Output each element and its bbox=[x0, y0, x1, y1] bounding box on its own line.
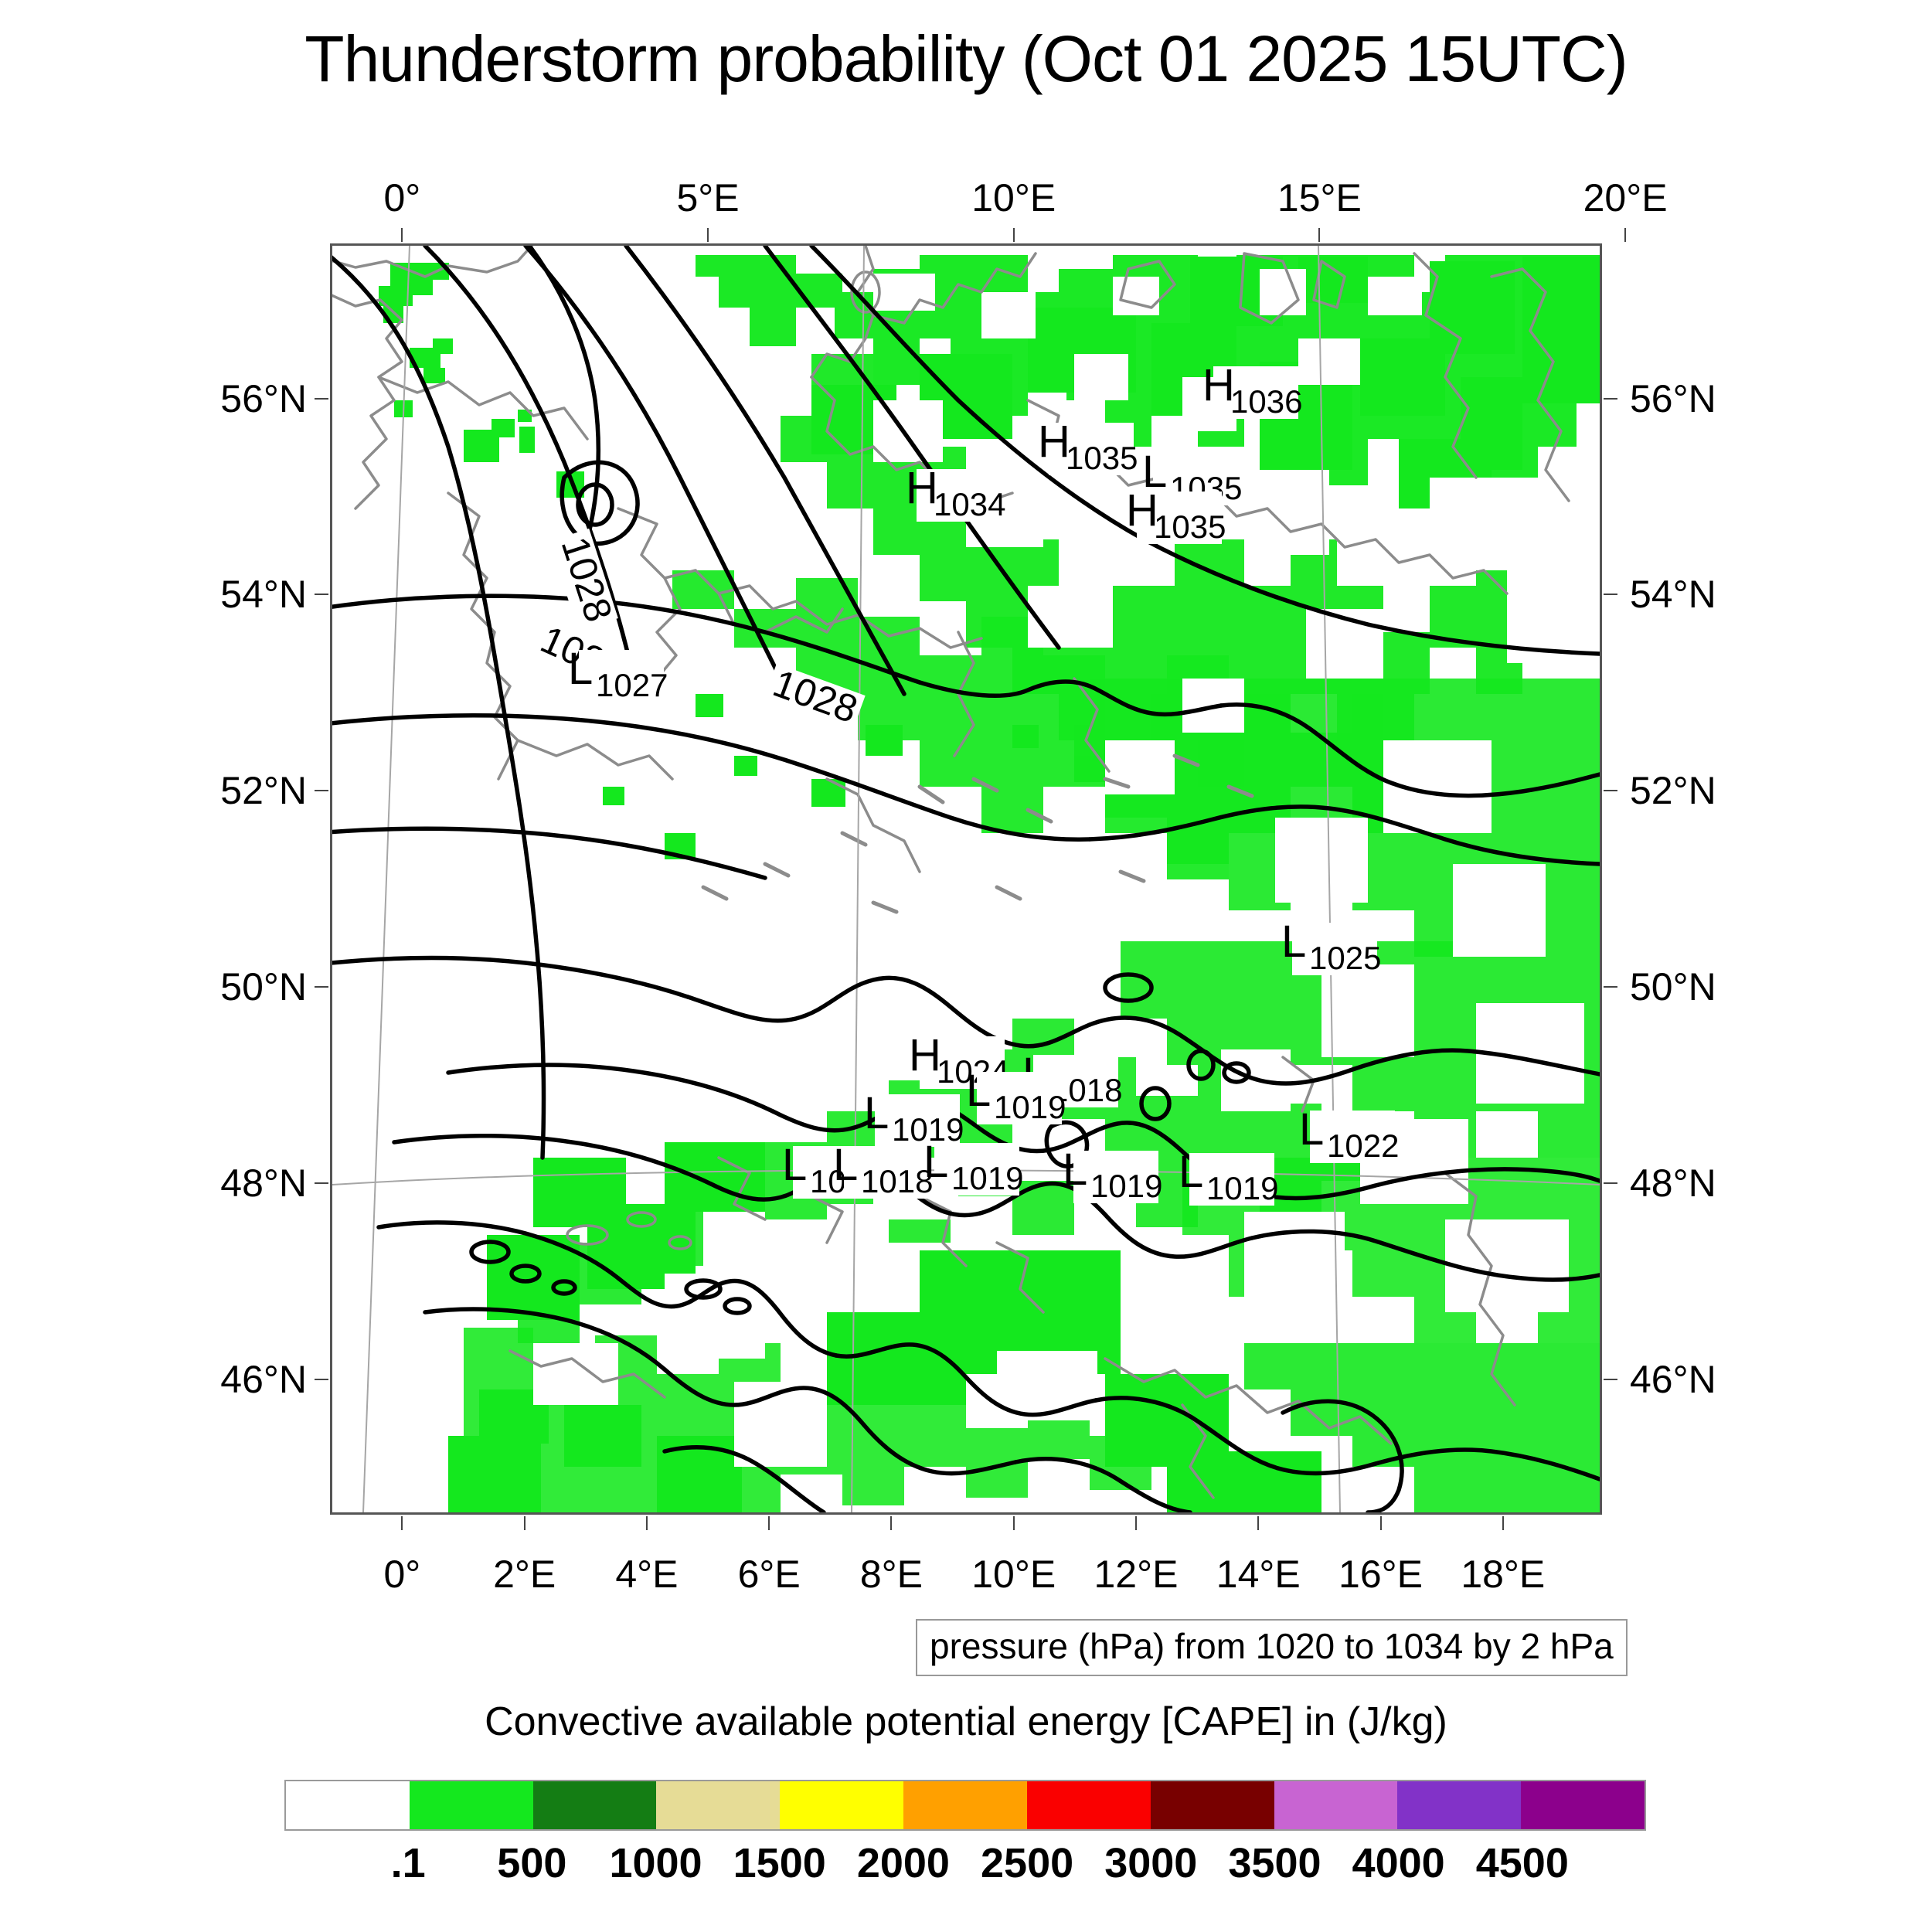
pressure-center-value: 1019 bbox=[1090, 1168, 1162, 1204]
pressure-center-value: 1035 bbox=[1154, 509, 1226, 545]
colorbar-segment-0 bbox=[286, 1781, 410, 1829]
pressure-center-type: L bbox=[782, 1140, 807, 1190]
axis-tick-left bbox=[315, 1379, 328, 1380]
axis-tick-right bbox=[1604, 986, 1617, 988]
pressure-center-l-1022: L1022 bbox=[1299, 1104, 1399, 1164]
pressure-center-l-1019: L1019 bbox=[966, 1066, 1066, 1125]
axis-tick-left bbox=[315, 398, 328, 400]
axis-label-bottom: 4°E bbox=[615, 1552, 678, 1597]
axis-label-left: 48°N bbox=[175, 1161, 307, 1206]
axis-label-left: 46°N bbox=[175, 1357, 307, 1402]
pressure-center-value: 1035 bbox=[1066, 440, 1138, 476]
axis-tick-left bbox=[315, 986, 328, 988]
axis-label-left: 50°N bbox=[175, 964, 307, 1009]
pressure-center-h-1036: H1036 bbox=[1202, 360, 1302, 420]
colorbar-segment-7 bbox=[1151, 1781, 1274, 1829]
axis-tick-left bbox=[315, 790, 328, 791]
axis-tick-bottom bbox=[401, 1516, 403, 1530]
axis-label-bottom: 18°E bbox=[1461, 1552, 1545, 1597]
pressure-center-value: 1034 bbox=[934, 486, 1005, 522]
colorbar-segment-2 bbox=[533, 1781, 657, 1829]
colorbar-segment-5 bbox=[903, 1781, 1027, 1829]
axis-tick-top bbox=[1318, 228, 1320, 242]
axis-label-right: 54°N bbox=[1630, 572, 1716, 617]
axis-tick-bottom bbox=[1380, 1516, 1382, 1530]
pressure-center-type: L bbox=[1179, 1147, 1203, 1197]
axis-label-left: 54°N bbox=[175, 572, 307, 617]
axis-tick-bottom bbox=[646, 1516, 648, 1530]
pressure-center-value: 1022 bbox=[1327, 1128, 1399, 1164]
pressure-center-type: L bbox=[568, 644, 593, 694]
colorbar-segment-1 bbox=[410, 1781, 533, 1829]
axis-label-bottom: 6°E bbox=[738, 1552, 801, 1597]
axis-label-left: 56°N bbox=[175, 376, 307, 421]
pressure-center-value: 1025 bbox=[1309, 940, 1381, 976]
pressure-center-type: L bbox=[966, 1066, 991, 1116]
pressure-center-type: L bbox=[864, 1088, 889, 1138]
axis-tick-right bbox=[1604, 594, 1617, 595]
axis-label-right: 52°N bbox=[1630, 768, 1716, 813]
pressure-center-type: L bbox=[1299, 1104, 1324, 1155]
colorbar-segment-4 bbox=[780, 1781, 903, 1829]
axis-tick-right bbox=[1604, 1379, 1617, 1380]
pressure-center-l-1019: L1019 bbox=[1179, 1147, 1278, 1206]
axis-tick-right bbox=[1604, 790, 1617, 791]
pressure-center-type: L bbox=[923, 1137, 948, 1187]
axis-tick-top bbox=[707, 228, 709, 242]
axis-label-bottom: 16°E bbox=[1338, 1552, 1423, 1597]
axis-tick-bottom bbox=[1257, 1516, 1259, 1530]
colorbar-tick-.1: .1 bbox=[391, 1839, 426, 1887]
pressure-center-h-1035: H1035 bbox=[1038, 417, 1138, 476]
colorbar-segment-10 bbox=[1521, 1781, 1645, 1829]
map-plot-area: 1028 1028 1028 H1036H1035L1035H1035H1034… bbox=[330, 243, 1602, 1515]
axis-label-bottom: 12°E bbox=[1094, 1552, 1179, 1597]
pressure-center-value: 1019 bbox=[1206, 1170, 1278, 1206]
pressure-center-l-1025: L1025 bbox=[1281, 917, 1381, 976]
colorbar-tick-labels: .150010001500200025003000350040004500 bbox=[284, 1839, 1646, 1893]
colorbar-segment-3 bbox=[656, 1781, 780, 1829]
axis-label-top: 5°E bbox=[676, 175, 739, 220]
pressure-center-l-1027: L1027 bbox=[568, 644, 668, 703]
colorbar-tick-1000: 1000 bbox=[609, 1839, 702, 1887]
axis-label-bottom: 0° bbox=[383, 1552, 420, 1597]
pressure-center-value: 1027 bbox=[596, 667, 668, 703]
axis-tick-bottom bbox=[768, 1516, 770, 1530]
axis-label-top: 20°E bbox=[1583, 175, 1668, 220]
page-title: Thunderstorm probability (Oct 01 2025 15… bbox=[0, 22, 1932, 97]
axis-tick-bottom bbox=[524, 1516, 526, 1530]
cape-shaded-field bbox=[379, 255, 1600, 1512]
map-canvas: 1028 1028 1028 H1036H1035L1035H1035H1034… bbox=[332, 246, 1600, 1512]
pressure-center-value: 1019 bbox=[994, 1089, 1066, 1125]
axis-label-top: 15°E bbox=[1277, 175, 1362, 220]
pressure-center-h-1035: H1035 bbox=[1126, 485, 1226, 545]
colorbar-tick-4000: 4000 bbox=[1352, 1839, 1445, 1887]
axis-label-top: 0° bbox=[383, 175, 420, 220]
axis-label-right: 46°N bbox=[1630, 1357, 1716, 1402]
axis-label-bottom: 10°E bbox=[971, 1552, 1056, 1597]
colorbar-tick-3000: 3000 bbox=[1104, 1839, 1197, 1887]
colorbar-tick-4500: 4500 bbox=[1476, 1839, 1569, 1887]
axis-label-bottom: 8°E bbox=[860, 1552, 923, 1597]
colorbar-title: Convective available potential energy [C… bbox=[0, 1699, 1932, 1745]
colorbar-segment-8 bbox=[1274, 1781, 1398, 1829]
pressure-center-value: 1019 bbox=[951, 1160, 1023, 1196]
axis-label-bottom: 14°E bbox=[1216, 1552, 1301, 1597]
pressure-center-type: L bbox=[833, 1140, 858, 1190]
axis-tick-bottom bbox=[1013, 1516, 1015, 1530]
colorbar-tick-500: 500 bbox=[497, 1839, 566, 1887]
colorbar-tick-3500: 3500 bbox=[1228, 1839, 1321, 1887]
axis-label-top: 10°E bbox=[971, 175, 1056, 220]
pressure-center-l-1019: L1019 bbox=[1063, 1145, 1162, 1204]
axis-label-right: 48°N bbox=[1630, 1161, 1716, 1206]
pressure-caption-box: pressure (hPa) from 1020 to 1034 by 2 hP… bbox=[916, 1619, 1628, 1676]
axis-tick-top bbox=[1624, 228, 1626, 242]
axis-tick-bottom bbox=[890, 1516, 892, 1530]
axis-label-right: 56°N bbox=[1630, 376, 1716, 421]
axis-label-bottom: 2°E bbox=[493, 1552, 556, 1597]
axis-tick-top bbox=[1013, 228, 1015, 242]
axis-tick-left bbox=[315, 594, 328, 595]
colorbar-segment-6 bbox=[1027, 1781, 1151, 1829]
pressure-center-l-1019: L1019 bbox=[923, 1137, 1023, 1196]
map-svg: 1028 1028 1028 H1036H1035L1035H1035H1034… bbox=[332, 246, 1600, 1512]
pressure-caption-text: pressure (hPa) from 1020 to 1034 by 2 hP… bbox=[930, 1626, 1614, 1666]
axis-tick-right bbox=[1604, 1182, 1617, 1184]
pressure-center-h-1034: H1034 bbox=[906, 463, 1005, 522]
axis-tick-top bbox=[401, 228, 403, 242]
pressure-center-l-1019: L1019 bbox=[864, 1088, 964, 1148]
pressure-center-value: 1036 bbox=[1230, 383, 1302, 420]
axis-label-right: 50°N bbox=[1630, 964, 1716, 1009]
axis-tick-bottom bbox=[1135, 1516, 1137, 1530]
axis-label-left: 52°N bbox=[175, 768, 307, 813]
colorbar-segment-9 bbox=[1397, 1781, 1521, 1829]
pressure-center-value: 1018 bbox=[861, 1163, 933, 1199]
colorbar-tick-1500: 1500 bbox=[733, 1839, 826, 1887]
axis-tick-right bbox=[1604, 398, 1617, 400]
colorbar-tick-2500: 2500 bbox=[981, 1839, 1073, 1887]
axis-tick-left bbox=[315, 1182, 328, 1184]
pressure-center-l-1018: L1018 bbox=[833, 1140, 933, 1199]
axis-tick-bottom bbox=[1502, 1516, 1504, 1530]
colorbar-tick-2000: 2000 bbox=[857, 1839, 950, 1887]
colorbar bbox=[284, 1780, 1646, 1831]
pressure-center-type: L bbox=[1063, 1145, 1087, 1195]
pressure-center-type: L bbox=[1281, 917, 1306, 967]
